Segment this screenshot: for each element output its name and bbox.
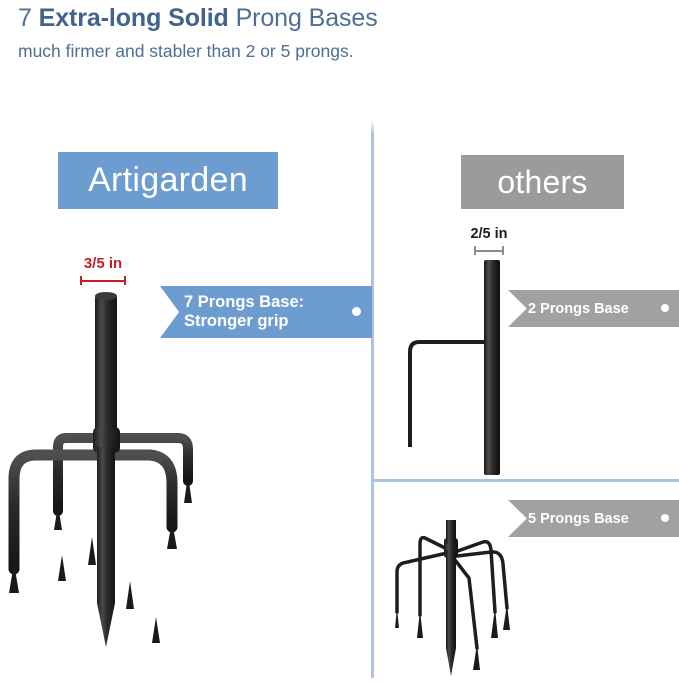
five-prong-garden-fork-icon [395,520,605,683]
two-prong-garden-stake-icon [390,250,540,487]
brand-banner-label: others [497,164,587,201]
page-subtitle: much firmer and stabler than 2 or 5 pron… [18,39,658,63]
seven-prong-garden-fork-icon [0,275,240,670]
callout-dot [661,304,669,312]
page-title-count: 7 [18,4,39,32]
brand-banner-artigarden: Artigarden [58,152,278,209]
callout-dot [661,514,669,522]
callout-text: 2 Prongs Base [528,301,629,317]
dimension-label: 3/5 in [64,255,142,272]
page-header: 7 Extra-long Solid Prong Bases much firm… [18,2,658,63]
dimension-label: 2/5 in [447,226,531,242]
callout-dot [352,307,361,316]
page-title-emphasis: Extra-long Solid [39,4,229,32]
page-title-tail: Prong Bases [229,4,378,32]
page-title: 7 Extra-long Solid Prong Bases [18,2,658,34]
brand-banner-label: Artigarden [88,161,248,200]
brand-banner-others: others [461,155,624,209]
vertical-divider [371,120,374,678]
